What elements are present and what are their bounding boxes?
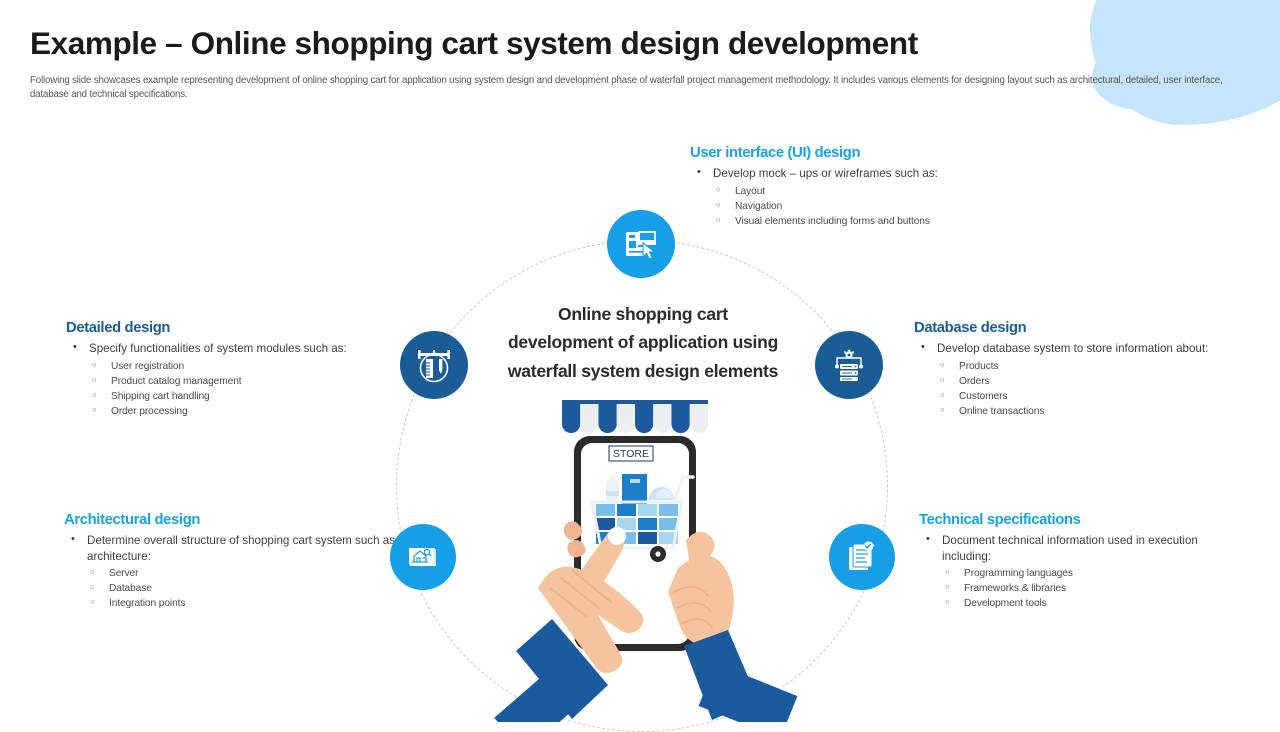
- node-architectural-design[interactable]: [390, 524, 456, 590]
- bullet-text: Determine overall structure of shopping …: [87, 534, 395, 563]
- sub-bullet: User registration: [89, 359, 396, 374]
- heading-detailed-design: Detailed design: [66, 320, 396, 336]
- sub-bullet: Database: [87, 581, 404, 596]
- sub-bullet: Product catalog management: [89, 374, 396, 389]
- sub-bullet: Online transactions: [937, 404, 1234, 419]
- sub-bullet: Development tools: [942, 596, 1239, 611]
- sub-bullet: Programming languages: [942, 566, 1239, 581]
- ruler-pen-icon: [415, 346, 453, 384]
- bullet-text: Specify functionalities of system module…: [89, 342, 347, 355]
- sub-bullet: Frameworks & libraries: [942, 581, 1239, 596]
- bullet-technical-specifications: Document technical information used in e…: [919, 533, 1239, 612]
- heading-user-interface: User interface (UI) design: [690, 145, 1110, 161]
- block-technical-specifications: Technical specifications Document techni…: [919, 512, 1239, 612]
- page-subtitle: Following slide showcases example repres…: [30, 74, 1235, 102]
- center-title: Online shopping cart development of appl…: [478, 300, 808, 385]
- sub-bullet: Visual elements including forms and butt…: [713, 214, 1110, 229]
- sub-bullet: Order processing: [89, 404, 396, 419]
- node-technical-specifications[interactable]: [829, 524, 895, 590]
- shopping-phone-illustration: STORE: [478, 392, 808, 722]
- database-gear-icon: [830, 346, 868, 384]
- heading-database-design: Database design: [914, 320, 1234, 336]
- sub-bullet: Server: [87, 566, 404, 581]
- sub-bullet: Integration points: [87, 596, 404, 611]
- sub-bullet: Shipping cart handling: [89, 389, 396, 404]
- heading-architectural-design: Architectural design: [64, 512, 404, 528]
- sub-bullet: Products: [937, 359, 1234, 374]
- bullet-detailed-design: Specify functionalities of system module…: [66, 341, 396, 419]
- sub-bullet: Layout: [713, 184, 1110, 199]
- bullet-text: Develop database system to store informa…: [937, 342, 1208, 355]
- sub-bullet: Customers: [937, 389, 1234, 404]
- block-architectural-design: Architectural design Determine overall s…: [64, 512, 404, 612]
- node-database-design[interactable]: [815, 331, 883, 399]
- block-user-interface: User interface (UI) design Develop mock …: [690, 145, 1110, 229]
- center-title-line-2: development of application using: [478, 328, 808, 356]
- block-database-design: Database design Develop database system …: [914, 320, 1234, 419]
- bullet-architectural-design: Determine overall structure of shopping …: [64, 533, 404, 612]
- blueprint-icon: [406, 540, 440, 574]
- center-title-line-3: waterfall system design elements: [478, 357, 808, 385]
- store-sign-label: STORE: [613, 448, 649, 460]
- document-gear-icon: [845, 540, 879, 574]
- sub-bullet: Orders: [937, 374, 1234, 389]
- node-detailed-design[interactable]: [400, 331, 468, 399]
- center-title-line-1: Online shopping cart: [478, 300, 808, 328]
- node-user-interface[interactable]: [607, 210, 675, 278]
- bullet-text: Develop mock – ups or wireframes such as…: [713, 167, 938, 180]
- bullet-database-design: Develop database system to store informa…: [914, 341, 1234, 419]
- page-title: Example – Online shopping cart system de…: [30, 26, 1240, 61]
- sub-bullet: Navigation: [713, 199, 1110, 214]
- slide-header: Example – Online shopping cart system de…: [30, 26, 1240, 102]
- wireframe-cursor-icon: [623, 226, 659, 262]
- bullet-user-interface: Develop mock – ups or wireframes such as…: [690, 166, 1110, 229]
- heading-technical-specifications: Technical specifications: [919, 512, 1239, 528]
- bullet-text: Document technical information used in e…: [942, 534, 1198, 563]
- block-detailed-design: Detailed design Specify functionalities …: [66, 320, 396, 419]
